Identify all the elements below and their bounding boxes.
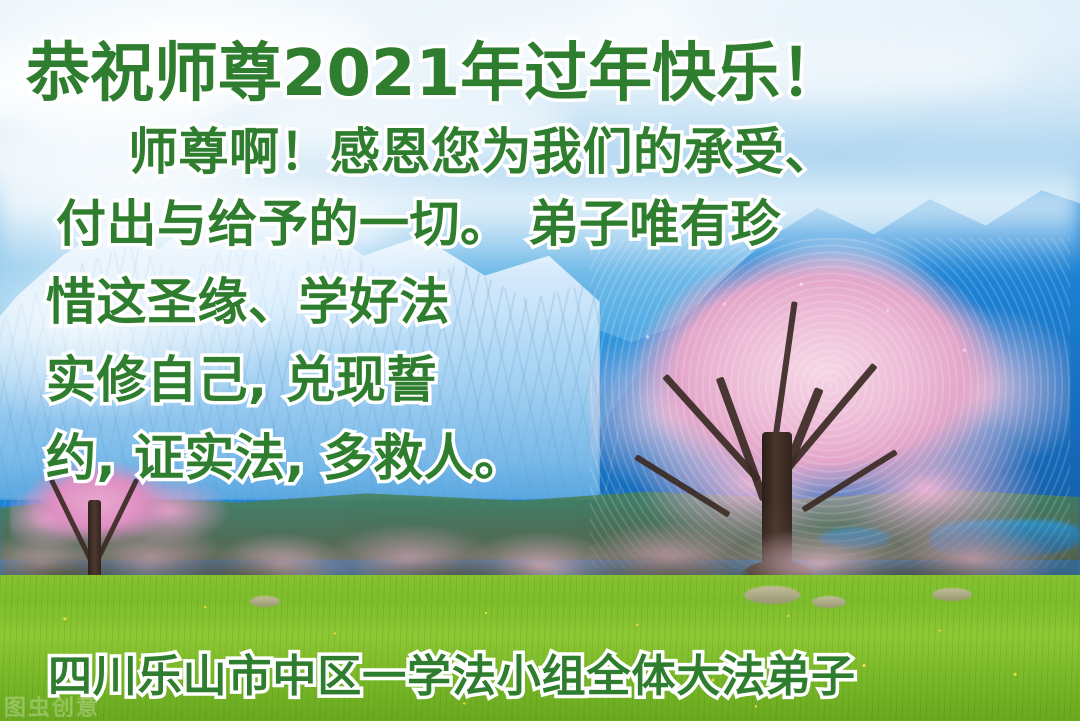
- greeting-body-line-4: 实修自己, 兑现誓: [46, 340, 437, 412]
- greeting-body-line-3: 惜这圣缘、学好法: [46, 262, 450, 334]
- greeting-body-line-2: 付出与给予的一切。 弟子唯有珍: [56, 184, 781, 256]
- greeting-body-line-5: 约, 证实法, 多救人。: [46, 418, 525, 490]
- greeting-signature: 四川乐山市中区一学法小组全体大法弟子: [48, 640, 856, 704]
- greeting-card: 恭祝师尊2021年过年快乐！ 师尊啊！感恩您为我们的承受、 付出与给予的一切。 …: [0, 0, 1080, 721]
- stock-watermark: 图虫创意: [4, 690, 100, 721]
- greeting-body-line-1: 师尊啊！感恩您为我们的承受、: [128, 112, 835, 184]
- text-overlay: 恭祝师尊2021年过年快乐！ 师尊啊！感恩您为我们的承受、 付出与给予的一切。 …: [0, 0, 1080, 721]
- greeting-title: 恭祝师尊2021年过年快乐！: [26, 22, 844, 114]
